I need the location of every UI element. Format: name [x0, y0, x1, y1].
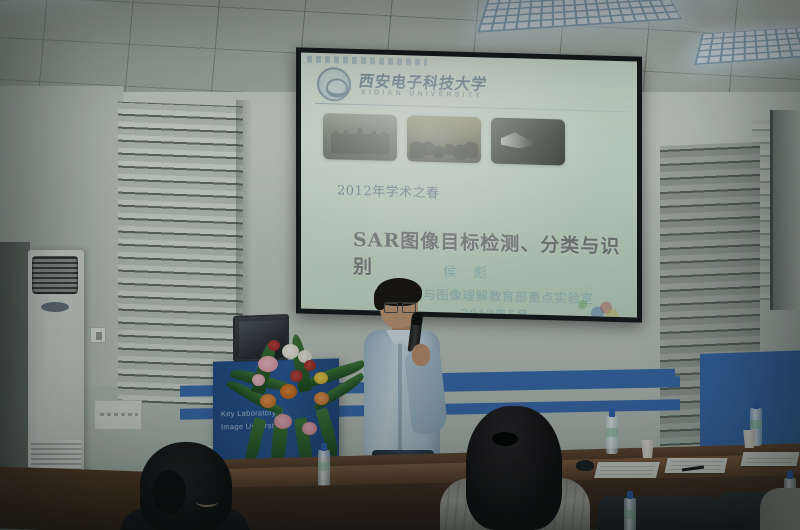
campus-building-photo	[323, 113, 397, 161]
hair-tie	[492, 432, 518, 446]
audience-member-right-edge	[760, 488, 800, 530]
lecture-hall-photo: 西安电子科技大学 XIDIAN UNIVERSITY 2012年学术之春 SAR…	[0, 0, 800, 530]
light-switch[interactable]	[90, 327, 106, 343]
wall-column	[0, 242, 30, 504]
pink-lily-flower	[274, 414, 292, 429]
water-bottle	[606, 416, 618, 454]
red-flower	[268, 340, 280, 351]
audience-hair	[466, 406, 562, 530]
slide-series-label: 2012年学术之春	[337, 179, 440, 201]
water-bottle	[318, 450, 330, 488]
pink-lily-flower	[302, 422, 317, 435]
necklace	[196, 497, 218, 507]
floor-standing-air-conditioner[interactable]	[28, 250, 84, 500]
night-scene-photo	[491, 118, 565, 166]
slide-decorative-bubble	[578, 300, 587, 309]
computer-mouse[interactable]	[576, 460, 594, 471]
presenter-hand	[412, 344, 430, 366]
slide-divider-rule	[315, 103, 629, 112]
document-text-lines	[745, 455, 795, 463]
document-text-lines	[599, 465, 655, 475]
xidian-university-crest-icon	[317, 67, 351, 102]
air-conditioner-badge	[41, 302, 69, 312]
orange-flower	[314, 392, 329, 405]
audience-ponytail	[152, 470, 186, 514]
slide-decorative-topbar	[307, 56, 427, 66]
slide-date: 2012年5月	[461, 305, 529, 318]
conference-chair	[598, 496, 718, 530]
orange-flower	[280, 384, 297, 399]
orange-flower	[260, 394, 276, 408]
wall-sign	[94, 400, 142, 430]
door-frame[interactable]	[770, 110, 800, 310]
red-flower	[290, 370, 303, 382]
eyeglasses-icon	[384, 302, 416, 310]
presenter-shirt-placket	[398, 344, 402, 454]
water-bottle	[624, 498, 636, 530]
projected-slide: 西安电子科技大学 XIDIAN UNIVERSITY 2012年学术之春 SAR…	[301, 52, 637, 317]
pink-lily-flower	[252, 374, 265, 386]
slide-presenter-name: 侯 彪	[443, 261, 493, 282]
document-sheet	[594, 462, 660, 478]
group-crowd-photo	[407, 115, 481, 163]
slide-decorative-bubble	[606, 309, 619, 318]
red-flower	[304, 360, 316, 371]
document-sheet	[741, 452, 800, 466]
air-conditioner-grille	[32, 256, 78, 294]
white-flower	[282, 344, 299, 359]
pink-lily-flower	[258, 356, 278, 372]
yellow-flower	[314, 372, 328, 384]
projection-screen-frame: 西安电子科技大学 XIDIAN UNIVERSITY 2012年学术之春 SAR…	[296, 47, 642, 322]
